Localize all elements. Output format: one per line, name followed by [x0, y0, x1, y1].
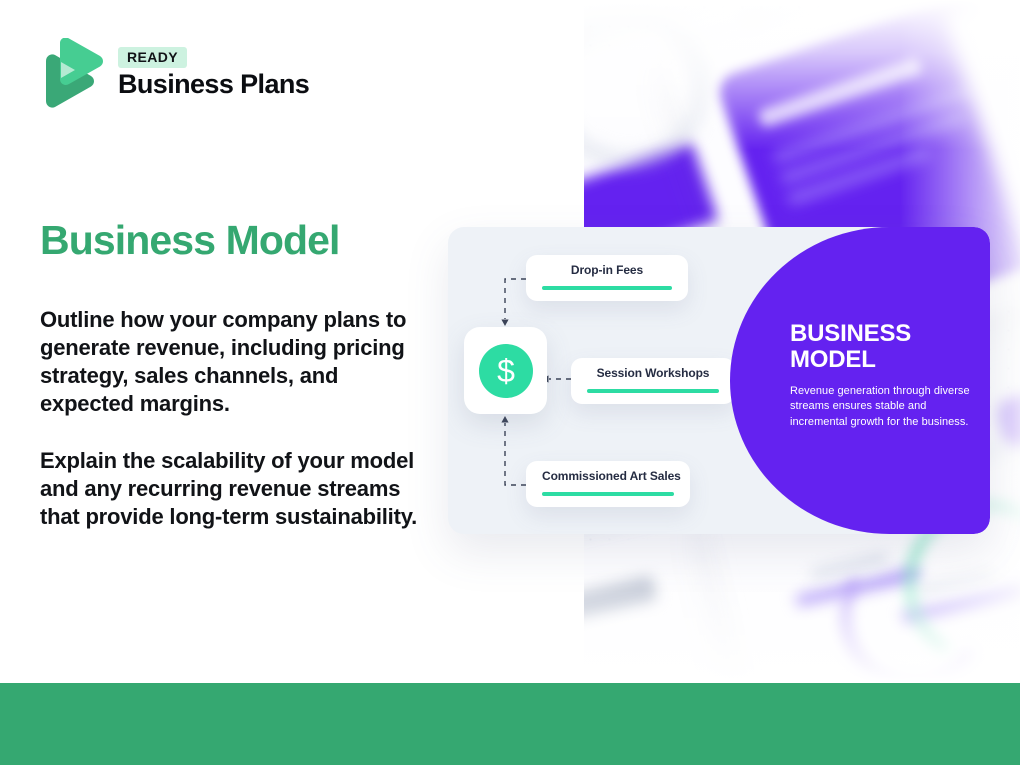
- svg-text:$: $: [497, 353, 515, 389]
- brand-logo-block[interactable]: READY Business Plans: [40, 38, 309, 108]
- panel-content: BUSINESS MODEL Revenue generation throug…: [790, 321, 970, 431]
- stream-label: Drop-in Fees: [542, 264, 672, 277]
- footer-bar: [0, 683, 1020, 765]
- brand-name: Business Plans: [118, 70, 309, 98]
- play-triangle-logo-icon: [40, 38, 104, 108]
- brand-text: READY Business Plans: [118, 47, 309, 98]
- body-paragraph-1: Outline how your company plans to genera…: [40, 306, 432, 419]
- panel-title: BUSINESS MODEL: [790, 321, 970, 373]
- revenue-stream-card[interactable]: Commissioned Art Sales: [526, 461, 690, 507]
- stream-label: Session Workshops: [587, 367, 719, 380]
- stream-accent-bar: [542, 286, 672, 290]
- dollar-sign-icon: $: [479, 344, 533, 398]
- business-model-card: $ Drop-in Fees Session Workshops Commiss…: [448, 227, 990, 534]
- revenue-hub: $: [464, 327, 547, 414]
- stream-accent-bar: [587, 389, 719, 393]
- ready-badge: READY: [118, 47, 187, 68]
- body-copy: Outline how your company plans to genera…: [40, 306, 432, 531]
- revenue-stream-card[interactable]: Session Workshops: [571, 358, 735, 404]
- panel-description: Revenue generation through diverse strea…: [790, 384, 970, 431]
- slide-canvas: READY Business Plans Business Model Outl…: [0, 0, 1020, 765]
- body-paragraph-2: Explain the scalability of your model an…: [40, 447, 432, 531]
- stream-label: Commissioned Art Sales: [542, 470, 674, 483]
- revenue-stream-card[interactable]: Drop-in Fees: [526, 255, 688, 301]
- page-title: Business Model: [40, 218, 340, 263]
- stream-accent-bar: [542, 492, 674, 496]
